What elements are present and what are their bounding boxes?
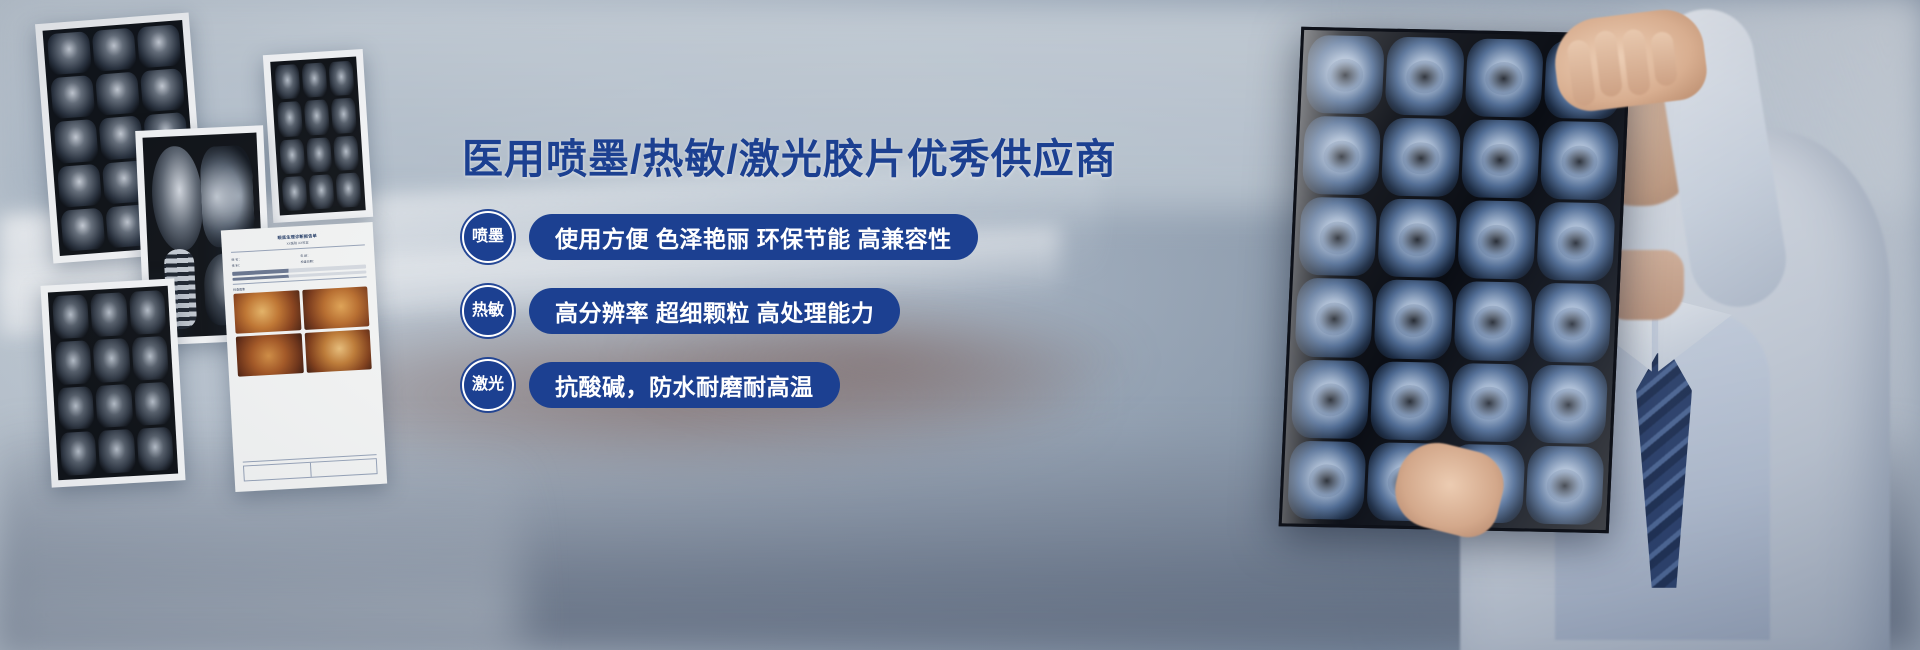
feature-row-thermal: 热敏 高分辨率 超细颗粒 高处理能力: [462, 285, 1117, 337]
hero-banner: 眼底生理诊断报告单 XX医院 XX科室 姓 名： 性 别： 年 龄： 检查日期：: [0, 0, 1920, 650]
badge-thermal[interactable]: 热敏: [462, 285, 514, 337]
banner-content: 医用喷墨/热敏/激光胶片优秀供应商 喷墨 使用方便 色泽艳丽 环保节能 高兼容性…: [462, 136, 1117, 411]
feature-row-inkjet: 喷墨 使用方便 色泽艳丽 环保节能 高兼容性: [462, 211, 1117, 263]
feature-pill-inkjet[interactable]: 使用方便 色泽艳丽 环保节能 高兼容性: [529, 214, 978, 260]
feature-pill-laser[interactable]: 抗酸碱，防水耐磨耐高温: [529, 362, 840, 408]
feature-row-laser: 激光 抗酸碱，防水耐磨耐高温: [462, 359, 1117, 411]
badge-inkjet[interactable]: 喷墨: [462, 211, 514, 263]
badge-laser[interactable]: 激光: [462, 359, 514, 411]
page-title: 医用喷墨/热敏/激光胶片优秀供应商: [462, 136, 1117, 183]
feature-pill-thermal[interactable]: 高分辨率 超细颗粒 高处理能力: [529, 288, 900, 334]
